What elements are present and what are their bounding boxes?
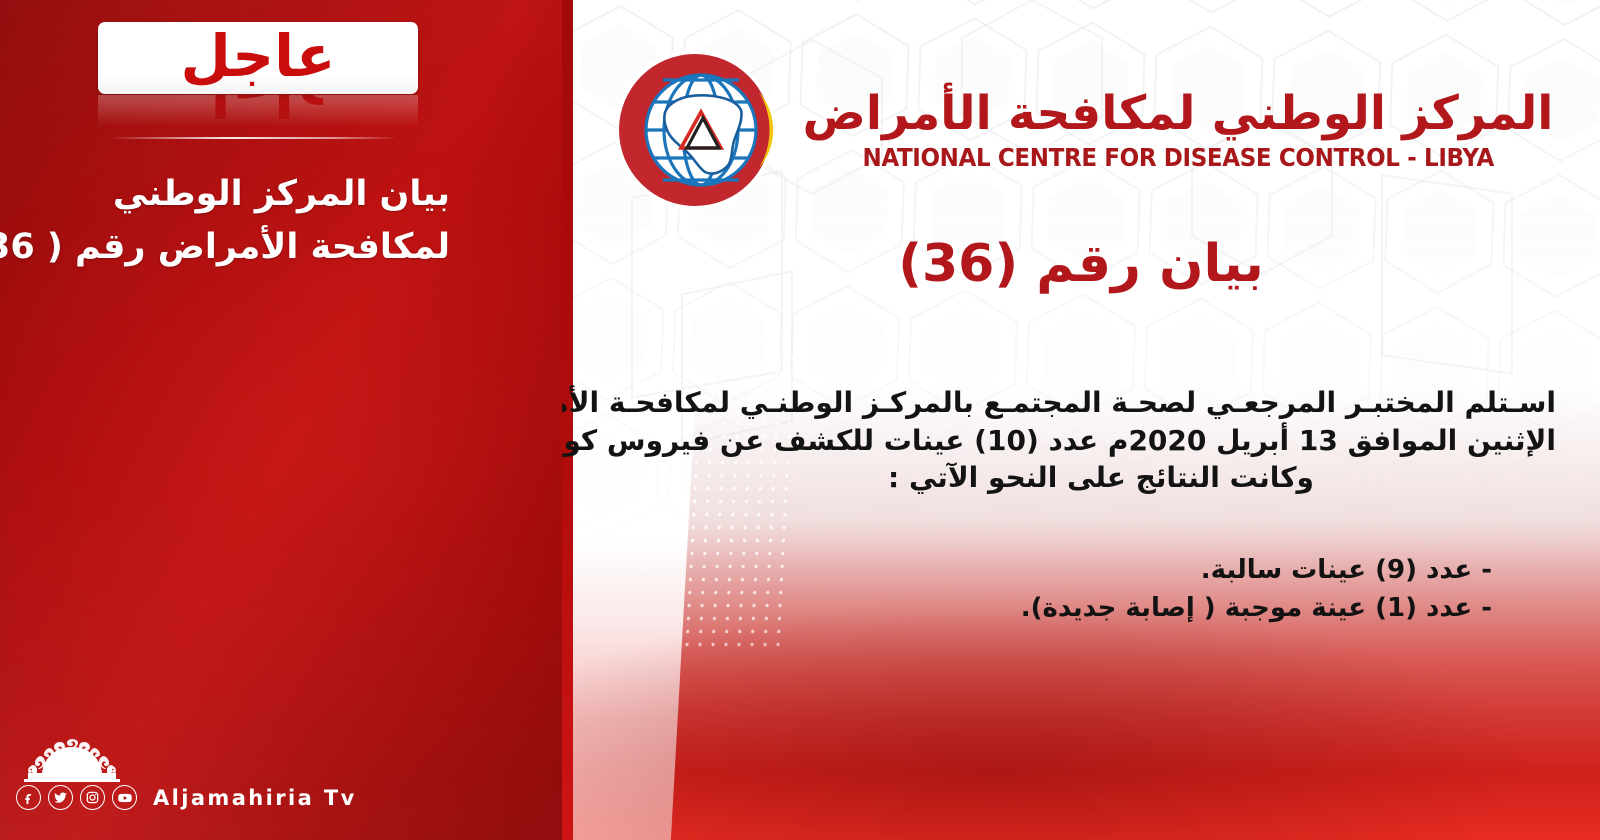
left-red-panel: عاجل عاجل بيان المركز الوطني لمكافحة الأ… — [0, 0, 562, 840]
ncdc-titles: المركز الوطني لمكافحة الأمراض NATIONAL C… — [803, 88, 1554, 173]
headline: بيان المركز الوطني لمكافحة الأمراض رقم (… — [0, 168, 450, 274]
breaking-news-label: عاجل — [181, 27, 336, 85]
social-links-row: Aljamahiria Tv — [16, 785, 316, 810]
breaking-badge-reflection: عاجل — [98, 95, 418, 131]
channel-logo: Aljamahiria Tv — [16, 735, 316, 810]
statement-body-line-1: اسـتلم المختبـر المرجعـي لصحـة المجتمـع … — [646, 384, 1556, 422]
statement-body-line-2: الإثنين الموافق 13 أبريل 2020م عدد (10) … — [646, 422, 1556, 460]
facebook-icon[interactable] — [16, 785, 41, 810]
statement-number-heading: بيان رقم (36) — [562, 236, 1600, 293]
channel-name: Aljamahiria Tv — [153, 786, 357, 810]
headline-line-1: بيان المركز الوطني — [0, 168, 450, 221]
ncdc-english-name: NATIONAL CENTRE FOR DISEASE CONTROL - LI… — [862, 143, 1493, 172]
ornamental-arch-icon — [22, 735, 122, 783]
results-list: - عدد (9) عينات سالبة. - عدد (1) عينة مو… — [632, 552, 1492, 628]
headline-divider — [108, 137, 398, 139]
statement-body-line-3: وكانت النتائج على النحو الآتي : — [646, 459, 1556, 497]
result-item-negative: - عدد (9) عينات سالبة. — [632, 552, 1492, 590]
statement-body: اسـتلم المختبـر المرجعـي لصحـة المجتمـع … — [646, 384, 1556, 497]
broadcast-news-graphic: عاجل عاجل بيان المركز الوطني لمكافحة الأ… — [0, 0, 1600, 840]
ncdc-globe-emblem — [609, 44, 781, 216]
breaking-badge-reflection-label: عاجل — [181, 95, 336, 124]
breaking-news-badge: عاجل — [98, 22, 418, 94]
headline-line-2: لمكافحة الأمراض رقم ( 36) — [0, 221, 450, 274]
ncdc-arabic-name: المركز الوطني لمكافحة الأمراض — [803, 88, 1554, 140]
instagram-icon[interactable] — [80, 785, 105, 810]
breaking-news-badge-group: عاجل عاجل — [98, 22, 418, 131]
result-item-positive: - عدد (1) عينة موجبة ( إصابة جديدة). — [632, 590, 1492, 628]
youtube-icon[interactable] — [112, 785, 137, 810]
twitter-icon[interactable] — [48, 785, 73, 810]
ncdc-header: المركز الوطني لمكافحة الأمراض NATIONAL C… — [562, 44, 1600, 216]
statement-card: المركز الوطني لمكافحة الأمراض NATIONAL C… — [562, 0, 1600, 840]
